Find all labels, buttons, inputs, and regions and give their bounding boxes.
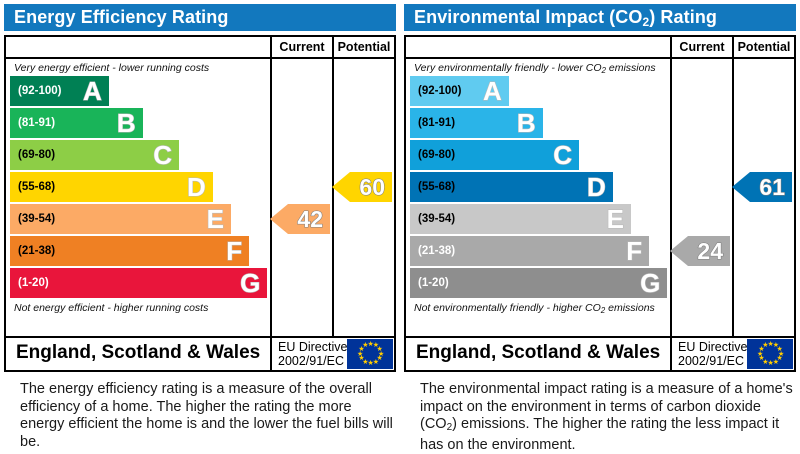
band-bar-list: (92-100)A(81-91)B(69-80)C(55-68)D(39-54)… (406, 76, 670, 298)
header-spacer (6, 37, 272, 57)
column-header-potential: Potential (734, 37, 794, 57)
indicator-column-current: 24 (672, 59, 734, 336)
panel-environmental-impact: Environmental Impact (CO2) RatingCurrent… (400, 0, 800, 448)
directive-line1: EU Directive (678, 340, 747, 354)
band-range-label: (21-38) (10, 245, 55, 257)
table-header-energy-efficiency: CurrentPotential (6, 37, 394, 59)
band-bar-E: (39-54)E (410, 204, 631, 234)
directive-line2: 2002/91/EC (278, 354, 344, 368)
panel-energy-efficiency: Energy Efficiency RatingCurrentPotential… (0, 0, 400, 448)
band-range-label: (55-68) (10, 181, 55, 193)
country-label: England, Scotland & Wales (6, 338, 272, 370)
band-range-label: (1-20) (10, 277, 49, 289)
directive-text: EU Directive2002/91/EC (278, 340, 347, 368)
band-bar-A: (92-100)A (410, 76, 509, 106)
band-bar-F: (21-38)F (410, 236, 649, 266)
column-header-current: Current (272, 37, 334, 57)
table-body-energy-efficiency: Very energy efficient - lower running co… (6, 59, 394, 336)
eu-directive-block: EU Directive2002/91/EC★★★★★★★★★★★★ (272, 338, 395, 370)
eu-flag-icon: ★★★★★★★★★★★★ (347, 339, 393, 369)
band-range-label: (81-91) (10, 117, 55, 129)
band-range-label: (69-80) (410, 149, 455, 161)
band-bar-E: (39-54)E (10, 204, 231, 234)
table-footer-energy-efficiency: England, Scotland & WalesEU Directive200… (6, 336, 394, 370)
epc-chart-page: Energy Efficiency RatingCurrentPotential… (0, 0, 800, 448)
band-range-label: (39-54) (10, 213, 55, 225)
band-bar-B: (81-91)B (10, 108, 143, 138)
band-bar-F: (21-38)F (10, 236, 249, 266)
table-footer-environmental-impact: England, Scotland & WalesEU Directive200… (406, 336, 794, 370)
band-range-label: (1-20) (410, 277, 449, 289)
band-bar-G: (1-20)G (410, 268, 667, 298)
header-spacer (406, 37, 672, 57)
band-letter-D: D (587, 174, 606, 200)
bottom-note: Not environmentally friendly - higher CO… (406, 300, 670, 317)
rating-indicator-potential: 61 (732, 172, 792, 202)
band-letter-A: A (83, 78, 102, 104)
band-bar-D: (55-68)D (10, 172, 213, 202)
band-letter-E: E (207, 206, 224, 232)
rating-table-energy-efficiency: CurrentPotentialVery energy efficient - … (4, 35, 396, 372)
eu-flag-icon: ★★★★★★★★★★★★ (747, 339, 793, 369)
band-range-label: (69-80) (10, 149, 55, 161)
band-range-label: (81-91) (410, 117, 455, 129)
band-range-label: (92-100) (410, 85, 461, 97)
indicator-column-current: 42 (272, 59, 334, 336)
directive-line1: EU Directive (278, 340, 347, 354)
band-letter-G: G (240, 270, 260, 296)
rating-table-environmental-impact: CurrentPotentialVery environmentally fri… (404, 35, 796, 372)
band-bar-D: (55-68)D (410, 172, 613, 202)
bands-column: Very environmentally friendly - lower CO… (406, 59, 672, 336)
directive-text: EU Directive2002/91/EC (678, 340, 747, 368)
band-range-label: (92-100) (10, 85, 61, 97)
bands-column: Very energy efficient - lower running co… (6, 59, 272, 336)
rating-indicator-current: 24 (670, 236, 730, 266)
band-letter-B: B (117, 110, 136, 136)
band-letter-A: A (483, 78, 502, 104)
band-letter-G: G (640, 270, 660, 296)
rating-indicator-potential: 60 (332, 172, 392, 202)
panel-caption-environmental-impact: The environmental impact rating is a mea… (404, 381, 796, 454)
band-letter-F: F (626, 238, 642, 264)
band-letter-C: C (153, 142, 172, 168)
band-range-label: (21-38) (410, 245, 455, 257)
band-bar-C: (69-80)C (410, 140, 579, 170)
band-range-label: (55-68) (410, 181, 455, 193)
band-bar-A: (92-100)A (10, 76, 109, 106)
table-body-environmental-impact: Very environmentally friendly - lower CO… (406, 59, 794, 336)
directive-line2: 2002/91/EC (678, 354, 744, 368)
band-letter-E: E (607, 206, 624, 232)
panel-title-environmental-impact: Environmental Impact (CO2) Rating (404, 4, 796, 31)
indicator-column-potential: 60 (334, 59, 394, 336)
band-range-label: (39-54) (410, 213, 455, 225)
column-header-potential: Potential (334, 37, 394, 57)
top-note: Very energy efficient - lower running co… (6, 59, 270, 76)
table-header-environmental-impact: CurrentPotential (406, 37, 794, 59)
indicator-column-potential: 61 (734, 59, 794, 336)
top-note: Very environmentally friendly - lower CO… (406, 59, 670, 76)
band-letter-B: B (517, 110, 536, 136)
band-bar-B: (81-91)B (410, 108, 543, 138)
column-header-current: Current (672, 37, 734, 57)
band-bar-G: (1-20)G (10, 268, 267, 298)
band-letter-F: F (226, 238, 242, 264)
band-bar-C: (69-80)C (10, 140, 179, 170)
country-label: England, Scotland & Wales (406, 338, 672, 370)
eu-star-icon: ★ (362, 342, 369, 349)
band-letter-C: C (553, 142, 572, 168)
eu-directive-block: EU Directive2002/91/EC★★★★★★★★★★★★ (672, 338, 795, 370)
bottom-note: Not energy efficient - higher running co… (6, 300, 270, 317)
panel-caption-energy-efficiency: The energy efficiency rating is a measur… (4, 381, 396, 451)
band-bar-list: (92-100)A(81-91)B(69-80)C(55-68)D(39-54)… (6, 76, 270, 298)
panel-title-energy-efficiency: Energy Efficiency Rating (4, 4, 396, 31)
rating-indicator-current: 42 (270, 204, 330, 234)
eu-star-icon: ★ (762, 342, 769, 349)
band-letter-D: D (187, 174, 206, 200)
